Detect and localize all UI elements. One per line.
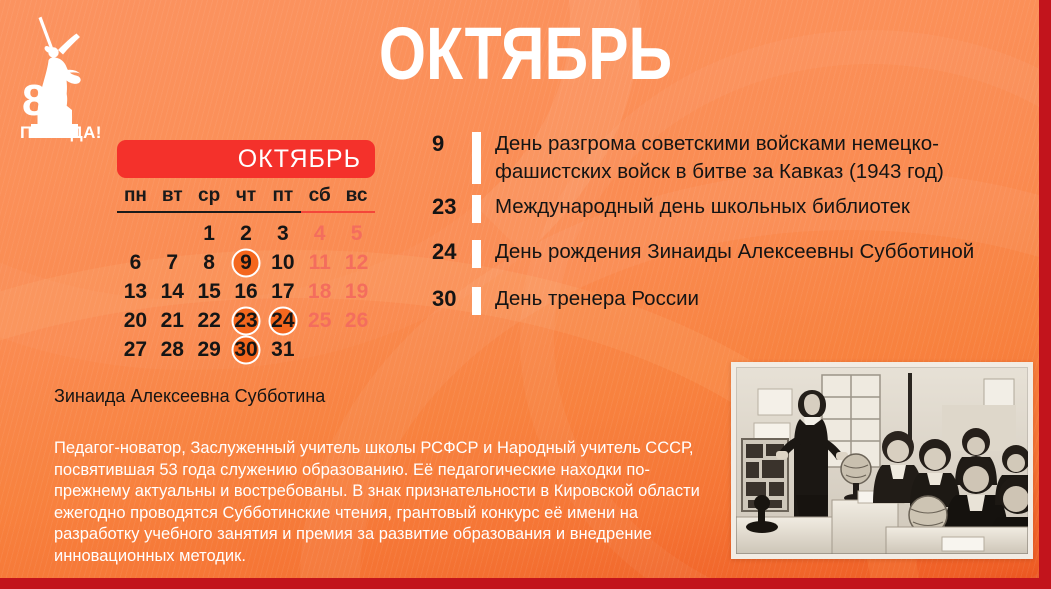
event-description: День рождения Зинаиды Алексеевны Субботи… [495, 238, 1012, 266]
calendar-day-number: 9 [240, 251, 252, 274]
calendar-rule-segment [191, 211, 228, 213]
calendar-rule-segment [338, 211, 375, 213]
calendar-weekday-вс: вс [338, 184, 375, 211]
calendar-day-number: 24 [271, 309, 294, 332]
calendar-day-22[interactable]: 22 [191, 306, 228, 335]
calendar-day-number: 16 [234, 280, 257, 303]
event-description: День тренера России [495, 285, 1012, 313]
calendar-day-16[interactable]: 16 [228, 277, 265, 306]
calendar-day-number: 11 [309, 251, 331, 274]
calendar-day-number: 8 [203, 251, 215, 274]
calendar-day-number: 1 [203, 222, 215, 245]
archive-photo-frame [731, 362, 1033, 559]
calendar-day-12[interactable]: 12 [338, 248, 375, 277]
event-row[interactable]: 24День рождения Зинаиды Алексеевны Суббо… [432, 238, 1012, 270]
calendar-day-3[interactable]: 3 [264, 219, 301, 248]
calendar-day-28[interactable]: 28 [154, 335, 191, 364]
calendar-day-9[interactable]: 9 [228, 248, 265, 277]
calendar-day-5[interactable]: 5 [338, 219, 375, 248]
calendar-day-2[interactable]: 2 [228, 219, 265, 248]
page-title: ОКТЯБРЬ [95, 12, 957, 96]
event-divider-bar [472, 195, 481, 223]
calendar-day-6[interactable]: 6 [117, 248, 154, 277]
calendar-day-20[interactable]: 20 [117, 306, 154, 335]
event-day-number: 23 [432, 193, 466, 221]
calendar-day-31[interactable]: 31 [264, 335, 301, 364]
event-row[interactable]: 9День разгрома советскими войсками немец… [432, 130, 1012, 186]
anniversary-number: 80 [22, 76, 67, 125]
calendar-day-number: 27 [124, 338, 147, 361]
calendar-weekday-вт: вт [154, 184, 191, 211]
svg-text:80: 80 [22, 76, 67, 125]
calendar-day-number: 14 [161, 280, 184, 303]
calendar-day-number: 7 [166, 251, 178, 274]
calendar-day-number: 17 [271, 280, 294, 303]
calendar-day-number: 12 [345, 251, 368, 274]
calendar-day-26[interactable]: 26 [338, 306, 375, 335]
calendar-rule-segment [301, 211, 338, 213]
event-day-number: 30 [432, 285, 466, 313]
calendar-day-number: 28 [161, 338, 184, 361]
calendar-weekday-row: пнвтсрчтптсбвс [117, 184, 375, 211]
calendar-day-19[interactable]: 19 [338, 277, 375, 306]
calendar-day-25[interactable]: 25 [301, 306, 338, 335]
event-divider-bar [472, 240, 481, 268]
calendar-cell-empty [301, 335, 338, 364]
calendar-day-number: 21 [161, 309, 184, 332]
victory-80-logo: 80 ПОБЕДА! [14, 14, 106, 142]
calendar-rule-row [117, 211, 375, 213]
calendar-day-13[interactable]: 13 [117, 277, 154, 306]
bottom-edge-accent-bar [0, 578, 1051, 589]
calendar-day-17[interactable]: 17 [264, 277, 301, 306]
calendar-day-21[interactable]: 21 [154, 306, 191, 335]
calendar-day-number: 18 [308, 280, 331, 303]
calendar-day-15[interactable]: 15 [191, 277, 228, 306]
calendar-day-number: 29 [197, 338, 220, 361]
calendar-day-number: 13 [124, 280, 147, 303]
calendar-day-18[interactable]: 18 [301, 277, 338, 306]
event-day-number: 9 [432, 130, 466, 158]
calendar-day-24[interactable]: 24 [264, 306, 301, 335]
calendar-day-grid: 1234567891011121314151617181920212223242… [117, 219, 375, 364]
calendar-cell-empty [154, 219, 191, 248]
calendar-cell-empty [338, 335, 375, 364]
calendar-day-4[interactable]: 4 [301, 219, 338, 248]
svg-text:ПОБЕДА!: ПОБЕДА! [20, 123, 102, 142]
victory-caption: ПОБЕДА! [20, 123, 102, 142]
bio-name: Зинаида Алексеевна Субботина [54, 386, 325, 407]
calendar-day-23[interactable]: 23 [228, 306, 265, 335]
calendar-day-number: 23 [234, 309, 257, 332]
calendar-day-number: 22 [197, 309, 220, 332]
calendar-weekday-пн: пн [117, 184, 154, 211]
calendar-day-number: 4 [314, 222, 326, 245]
calendar-day-number: 26 [345, 309, 368, 332]
slide-root: 80 ПОБЕДА! ОКТЯБРЬ ОКТЯБРЬ пнвтсрчтптсбв… [0, 0, 1051, 589]
calendar-day-number: 6 [130, 251, 142, 274]
events-list: 9День разгрома советскими войсками немец… [432, 130, 1012, 325]
event-row[interactable]: 23Международный день школьных библиотек [432, 193, 1012, 225]
right-edge-accent-bar [1039, 0, 1051, 589]
calendar-header: ОКТЯБРЬ [117, 140, 375, 178]
calendar-weekday-ср: ср [191, 184, 228, 211]
calendar-day-10[interactable]: 10 [264, 248, 301, 277]
calendar-day-number: 5 [351, 222, 363, 245]
calendar-day-8[interactable]: 8 [191, 248, 228, 277]
calendar-day-30[interactable]: 30 [228, 335, 265, 364]
calendar-day-1[interactable]: 1 [191, 219, 228, 248]
calendar-day-number: 15 [197, 280, 220, 303]
calendar-weekday-пт: пт [264, 184, 301, 211]
calendar-day-27[interactable]: 27 [117, 335, 154, 364]
calendar-day-number: 20 [124, 309, 147, 332]
calendar-day-7[interactable]: 7 [154, 248, 191, 277]
calendar: ОКТЯБРЬ пнвтсрчтптсбвс 12345678910111213… [117, 140, 375, 364]
calendar-month-label: ОКТЯБРЬ [238, 145, 361, 174]
archive-photo [736, 367, 1028, 554]
event-day-number: 24 [432, 238, 466, 266]
calendar-weekday-сб: сб [301, 184, 338, 211]
calendar-day-14[interactable]: 14 [154, 277, 191, 306]
event-description: Международный день школьных библиотек [495, 193, 1012, 221]
calendar-rule-segment [228, 211, 265, 213]
event-description: День разгрома советскими войсками немецк… [495, 130, 1012, 186]
calendar-day-11[interactable]: 11 [301, 248, 338, 277]
calendar-day-number: 19 [345, 280, 368, 303]
calendar-day-29[interactable]: 29 [191, 335, 228, 364]
event-divider-bar [472, 132, 481, 184]
calendar-day-number: 25 [308, 309, 331, 332]
event-divider-bar [472, 287, 481, 315]
calendar-day-number: 30 [234, 338, 257, 361]
calendar-day-number: 2 [240, 222, 252, 245]
event-row[interactable]: 30День тренера России [432, 285, 1012, 317]
calendar-rule-segment [154, 211, 191, 213]
calendar-rule-segment [117, 211, 154, 213]
calendar-day-number: 3 [277, 222, 289, 245]
bio-description: Педагог-новатор, Заслуженный учитель шко… [54, 438, 722, 567]
calendar-weekday-чт: чт [228, 184, 265, 211]
calendar-day-number: 10 [271, 251, 294, 274]
calendar-rule-segment [264, 211, 301, 213]
calendar-cell-empty [117, 219, 154, 248]
calendar-day-number: 31 [271, 338, 294, 361]
